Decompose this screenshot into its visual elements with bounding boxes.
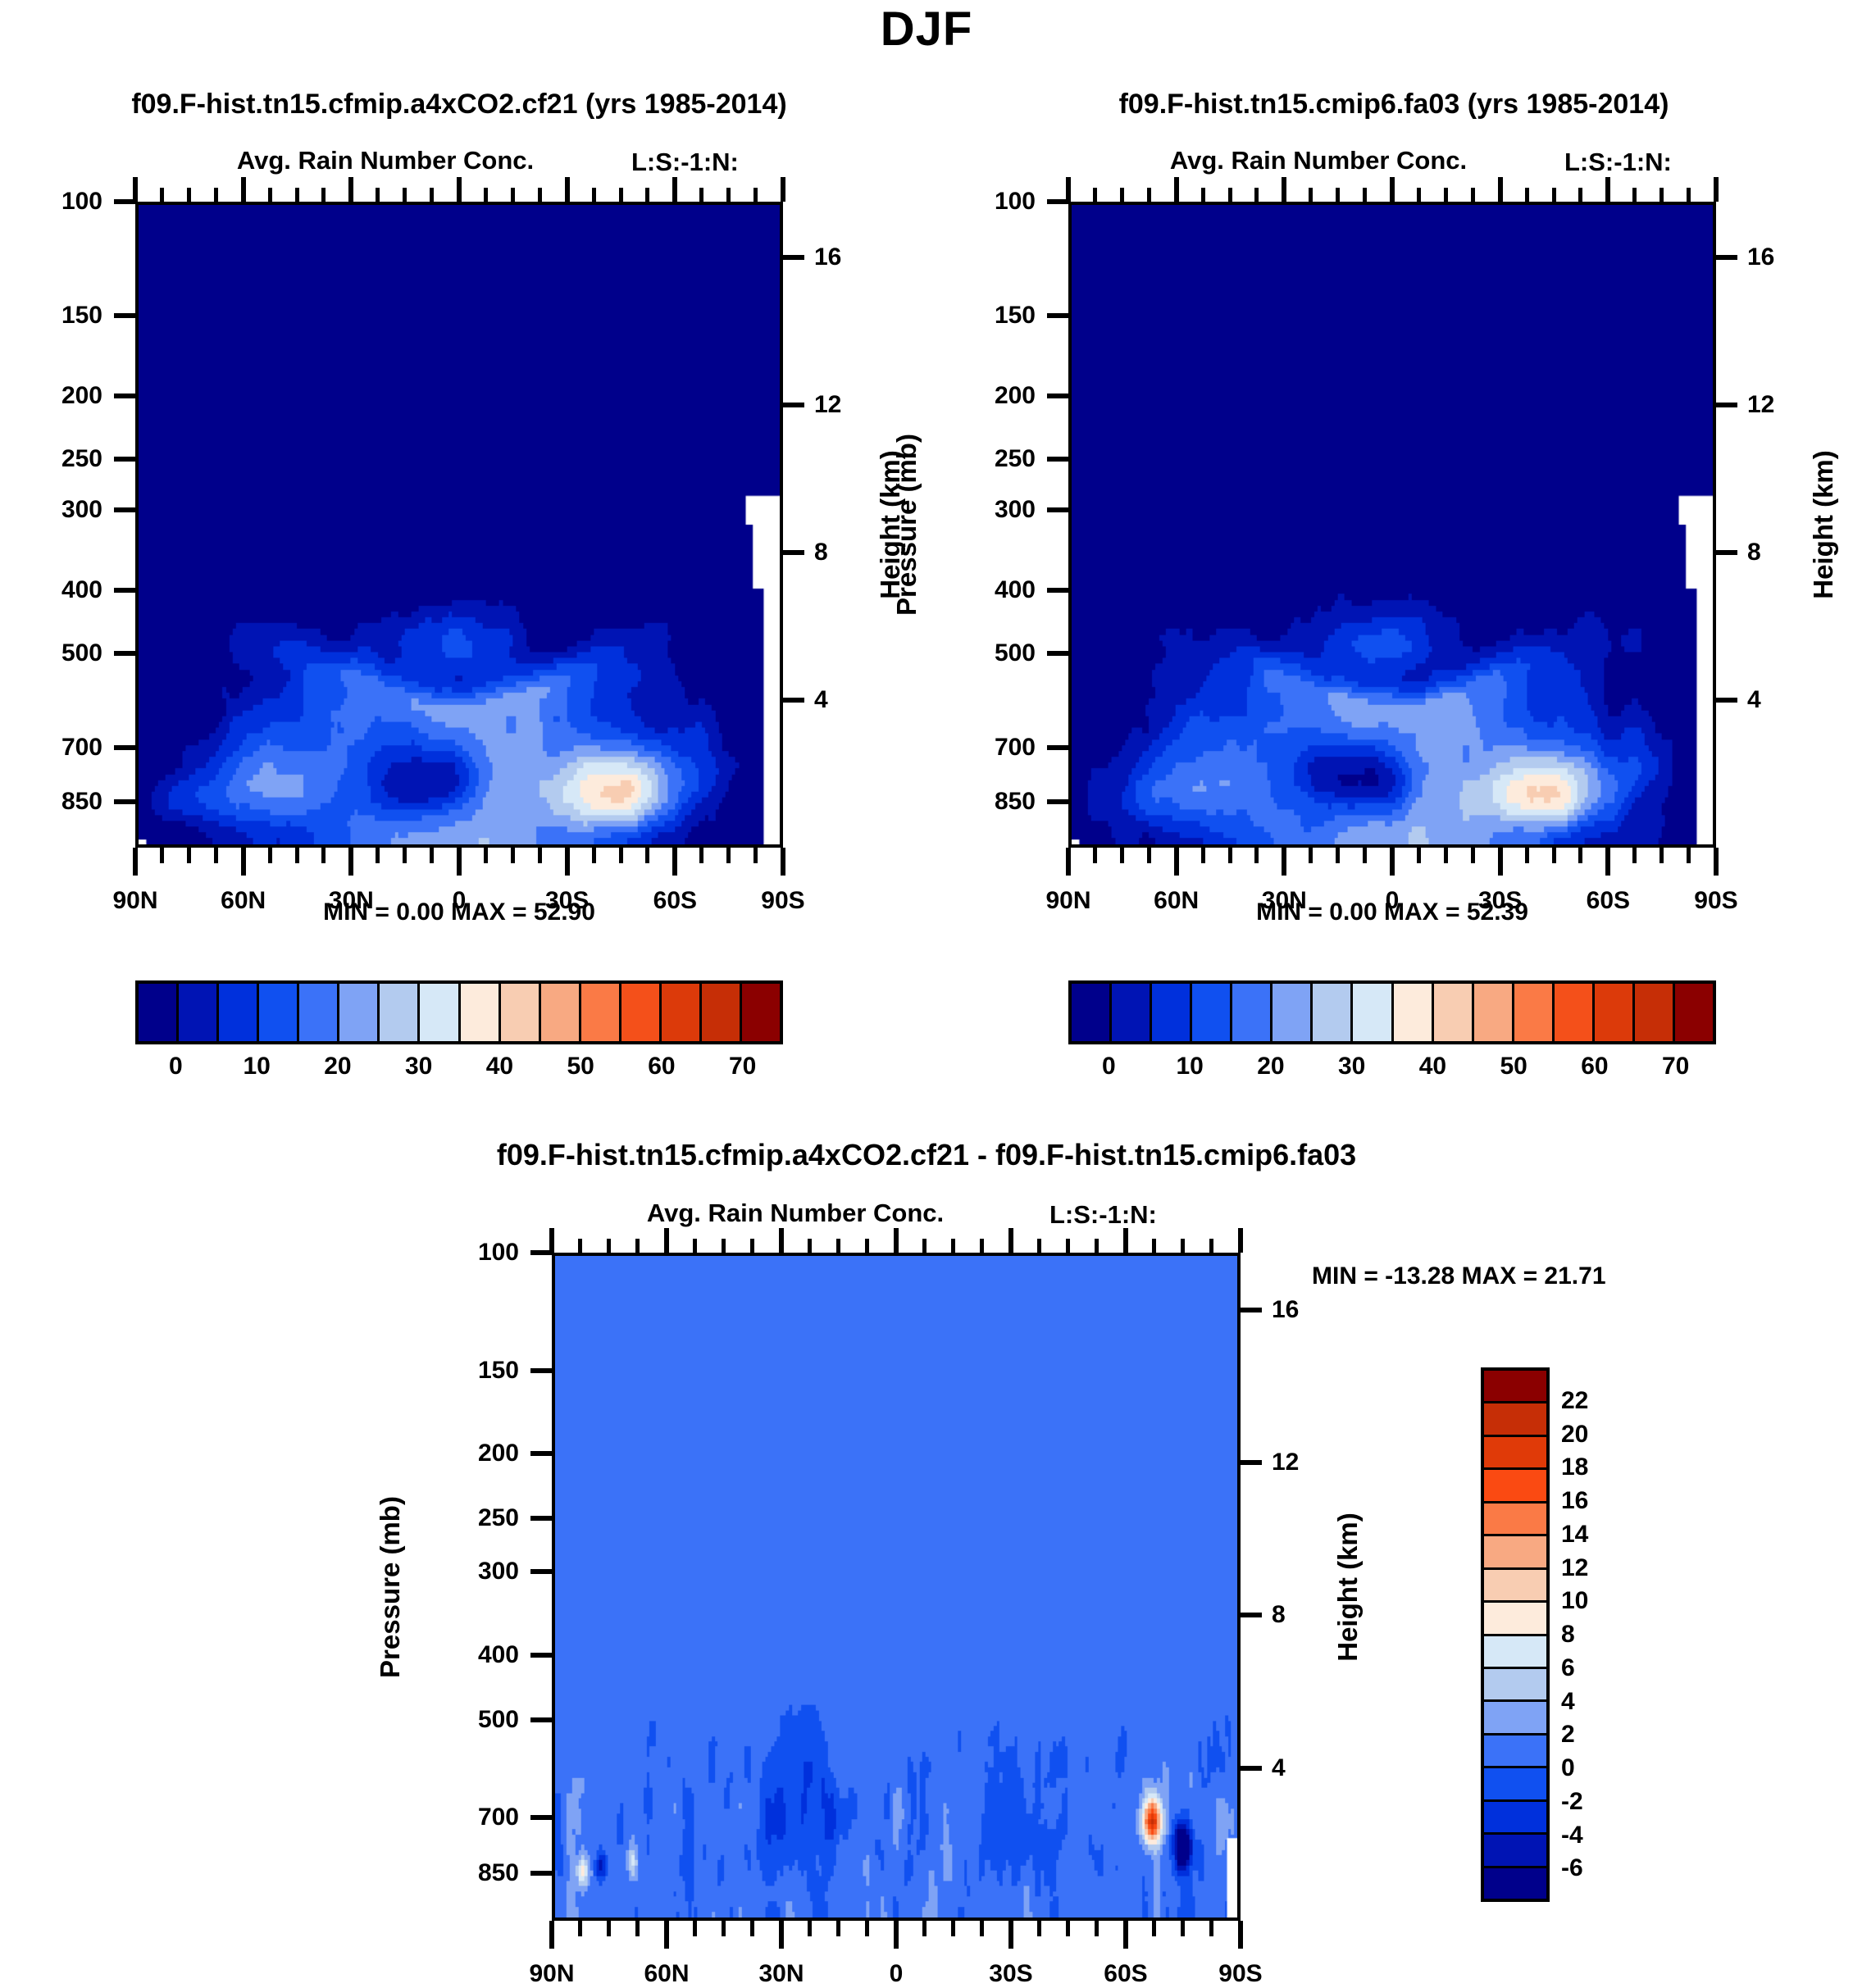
y-axis-tick-label: 700 [937,734,1036,762]
x-axis-top-minor-tick [511,188,515,202]
x-axis-minor-tick [1037,1921,1041,1936]
plot-area-top-left [135,202,783,848]
colorbar-tick-label: -4 [1561,1822,1583,1849]
y-axis-tick [530,1871,552,1876]
y-axis-tick [1047,588,1068,593]
plot-area-top-right [1068,202,1716,848]
x-axis-top-minor-tick [430,188,434,202]
y-axis-tick-label: 150 [937,302,1036,330]
x-axis-minor-tick [214,848,218,863]
colorbar-swatch [1675,984,1713,1041]
x-axis-minor-tick [1120,848,1124,863]
x-axis-top-tick [1008,1228,1013,1253]
x-axis-tick [1123,1921,1128,1949]
x-axis-tick-label: 60N [221,887,266,915]
x-axis-top-minor-tick [1095,1239,1099,1253]
x-axis-minor-tick [403,848,407,863]
x-axis-top-tick [549,1228,554,1253]
y-axis-tick-label: 500 [4,639,102,667]
colorbar-swatch [1484,1536,1546,1569]
colorbar-swatch [1484,1702,1546,1735]
y-axis-tick-label: 200 [421,1440,519,1467]
x-axis-top-minor-tick [1578,188,1582,202]
contour-field-top-left [139,205,780,844]
x-axis-minor-tick [607,1921,611,1936]
colorbar-tick-label: 30 [1338,1053,1365,1080]
x-axis-top-minor-tick [1181,1239,1185,1253]
colorbar-swatch [339,984,380,1041]
x-axis-top-minor-tick [1660,188,1664,202]
y-axis-tick [1047,394,1068,398]
colorbar-bottom-diff[interactable] [1481,1367,1550,1902]
y-axis-tick [114,457,135,462]
panel-subtitle-top-left: Avg. Rain Number Conc. [131,146,640,175]
colorbar-tick-label: 0 [1102,1053,1116,1080]
x-axis-minor-tick [1181,1921,1185,1936]
x-axis-minor-tick [430,848,434,863]
x-axis-minor-tick [1660,848,1664,863]
y2-axis-tick-label: 8 [1747,539,1761,566]
y-axis-tick-label: 400 [937,576,1036,604]
y-axis-tick-label: 400 [421,1641,519,1669]
x-axis-top-minor-tick [865,1239,869,1253]
x-axis-tick-label: 90N [1045,887,1090,915]
x-axis-top-minor-tick [1309,188,1313,202]
colorbar-swatch [1514,984,1555,1041]
colorbar-swatch [1484,1768,1546,1801]
colorbar-swatch [1484,1802,1546,1835]
y-axis-tick [114,745,135,750]
y-axis-tick-label: 300 [937,496,1036,524]
colorbar-tick-label: 10 [1176,1053,1203,1080]
x-axis-tick-label: 60N [1154,887,1199,915]
colorbar-tick-label: 12 [1561,1554,1588,1582]
minmax-bottom-diff: MIN = -13.28 MAX = 21.71 [1312,1262,1606,1290]
y-axis-tick-label: 250 [937,445,1036,473]
x-axis-minor-tick [376,848,380,863]
panel-ls-label-bottom-diff: L:S:-1:N: [1049,1200,1157,1230]
colorbar-swatch [1484,1835,1546,1867]
x-axis-top-minor-tick [1525,188,1529,202]
x-axis-top-minor-tick [808,1239,812,1253]
colorbar-swatch [1232,984,1273,1041]
x-axis-minor-tick [1228,848,1232,863]
x-axis-minor-tick [1471,848,1475,863]
colorbar-swatch [179,984,219,1041]
x-axis-minor-tick [980,1921,984,1936]
x-axis-top-tick [1282,177,1286,202]
colorbar-swatch [742,984,780,1041]
x-axis-tick-label: 30S [545,887,589,915]
y-axis-tick-label: 500 [421,1706,519,1734]
x-axis-minor-tick [1578,848,1582,863]
colorbar-swatch [1474,984,1514,1041]
x-axis-minor-tick [922,1921,926,1936]
x-axis-minor-tick [1336,848,1340,863]
x-axis-minor-tick [726,848,731,863]
x-axis-tick [1238,1921,1243,1949]
y-axis-tick-label: 850 [937,788,1036,816]
colorbar-tick-label: 10 [1561,1587,1588,1615]
colorbar-swatch [1484,1470,1546,1503]
season-title: DJF [0,2,1853,57]
x-axis-minor-tick [951,1921,955,1936]
y-axis-tick [1047,313,1068,318]
x-axis-top-minor-tick [1093,188,1097,202]
x-axis-top-tick [1605,177,1610,202]
x-axis-top-minor-tick [693,1239,697,1253]
x-axis-top-minor-tick [722,1239,726,1253]
y2-axis-tick [783,403,804,407]
x-axis-minor-tick [1552,848,1556,863]
x-axis-top-minor-tick [922,1239,926,1253]
x-axis-tick [781,848,785,876]
y-axis-tick [1047,457,1068,462]
x-axis-minor-tick [1309,848,1313,863]
x-axis-top-minor-tick [187,188,191,202]
colorbar-swatch [1484,1504,1546,1536]
y-axis-tick-label: 250 [421,1504,519,1532]
colorbar-tick-label: 60 [648,1053,675,1080]
colorbar-tick-label: 4 [1561,1688,1575,1716]
x-axis-top-minor-tick [321,188,326,202]
x-axis-tick-label: 30S [1478,887,1522,915]
x-axis-tick-label: 60S [653,887,697,915]
x-axis-top-tick [241,177,246,202]
y2-axis-tick [1716,255,1737,260]
x-axis-top-minor-tick [1336,188,1340,202]
y2-axis-tick [783,550,804,555]
colorbar-top-right[interactable] [1068,980,1716,1044]
colorbar-tick-label: -2 [1561,1788,1583,1816]
x-axis-top-minor-tick [403,188,407,202]
x-axis-top-minor-tick [1254,188,1259,202]
x-axis-top-tick [781,177,785,202]
colorbar-tick-label: 8 [1561,1621,1575,1649]
x-axis-tick-label: 90N [112,887,157,915]
y-axis-tick [530,1653,552,1658]
x-axis-minor-tick [1066,1921,1070,1936]
x-axis-top-minor-tick [376,188,380,202]
colorbar-swatch [501,984,541,1041]
x-axis-minor-tick [1093,848,1097,863]
x-axis-top-minor-tick [160,188,164,202]
x-axis-minor-tick [750,1921,754,1936]
y-axis-tick [114,651,135,656]
colorbar-tick-label: 50 [1500,1053,1527,1080]
x-axis-minor-tick [160,848,164,863]
colorbar-swatch [139,984,179,1041]
x-axis-top-minor-tick [1444,188,1448,202]
x-axis-minor-tick [321,848,326,863]
colorbar-swatch [1072,984,1112,1041]
x-axis-tick-label: 0 [453,887,467,915]
x-axis-top-tick [1498,177,1503,202]
x-axis-tick-label: 90N [529,1960,574,1988]
colorbar-tick-label: 40 [486,1053,513,1080]
x-axis-tick [1066,848,1071,876]
y-axis-tick [530,1815,552,1820]
panel-title-top-left: f09.F-hist.tn15.cfmip.a4xCO2.cf21 (yrs 1… [0,89,918,121]
x-axis-top-minor-tick [268,188,272,202]
x-axis-top-tick [1066,177,1071,202]
colorbar-swatch [1484,1636,1546,1669]
y2-axis-tick [1241,1460,1262,1465]
x-axis-top-minor-tick [214,188,218,202]
x-axis-top-minor-tick [1066,1239,1070,1253]
colorbar-tick-label: 20 [1561,1421,1588,1449]
y2-axis-tick-label: 12 [1747,391,1774,419]
colorbar-swatch [581,984,621,1041]
x-axis-top-minor-tick [1209,1239,1213,1253]
colorbar-swatch [1595,984,1635,1041]
x-axis-minor-tick [699,848,703,863]
x-axis-top-minor-tick [1417,188,1421,202]
x-axis-top-tick [1390,177,1395,202]
x-axis-tick-label: 90S [1218,1960,1262,1988]
x-axis-top-minor-tick [578,1239,582,1253]
colorbar-tick-label: 70 [729,1053,756,1080]
x-axis-minor-tick [268,848,272,863]
colorbar-swatch [299,984,339,1041]
x-axis-tick-label: 60S [1104,1960,1147,1988]
y-axis-tick-label: 850 [421,1859,519,1887]
colorbar-tick-label: 40 [1419,1053,1446,1080]
x-axis-tick [1008,1921,1013,1949]
x-axis-minor-tick [1444,848,1448,863]
x-axis-tick [241,848,246,876]
x-axis-top-tick [133,177,138,202]
colorbar-tick-label: 6 [1561,1654,1575,1682]
y-axis-tick [530,1516,552,1521]
y2-axis-tick-label: 4 [814,686,828,714]
x-axis-tick [1174,848,1179,876]
x-axis-tick [1714,848,1719,876]
y2-axis-tick-label: 12 [1272,1449,1299,1476]
colorbar-tick-label: 30 [405,1053,432,1080]
x-axis-tick [348,848,353,876]
y-axis-tick [114,799,135,804]
x-axis-tick [779,1921,784,1949]
y2-axis-tick-label: 4 [1272,1754,1286,1782]
x-axis-top-minor-tick [699,188,703,202]
colorbar-top-left[interactable] [135,980,783,1044]
x-axis-top-tick [1123,1228,1128,1253]
x-axis-top-minor-tick [1687,188,1691,202]
x-axis-minor-tick [578,1921,582,1936]
y-axis-tick-label: 250 [4,445,102,473]
x-axis-tick-label: 60S [1587,887,1630,915]
x-axis-tick [1605,848,1610,876]
y-axis-tick-label: 200 [4,382,102,410]
x-axis-minor-tick [619,848,623,863]
x-axis-minor-tick [1095,1921,1099,1936]
y2-axis-tick [1241,1613,1262,1617]
x-axis-minor-tick [538,848,542,863]
colorbar-swatch [1484,1868,1546,1899]
x-axis-top-minor-tick [1152,1239,1156,1253]
x-axis-top-minor-tick [484,188,488,202]
y2-axis-tick [1241,1308,1262,1312]
x-axis-minor-tick [836,1921,840,1936]
y2-axis-tick [1716,403,1737,407]
colorbar-swatch [1484,1371,1546,1403]
y2-axis-title: Height (km) [1808,450,1839,599]
colorbar-swatch [1484,1603,1546,1635]
y2-axis-tick [1716,550,1737,555]
colorbar-swatch [1313,984,1353,1041]
x-axis-minor-tick [645,848,649,863]
x-axis-top-minor-tick [1037,1239,1041,1253]
colorbar-tick-label: 2 [1561,1721,1575,1749]
x-axis-top-tick [894,1228,899,1253]
y-axis-tick-label: 700 [421,1804,519,1831]
x-axis-tick-label: 30N [1262,887,1307,915]
x-axis-minor-tick [295,848,299,863]
x-axis-top-minor-tick [1147,188,1151,202]
x-axis-top-tick [672,177,677,202]
colorbar-swatch [1273,984,1313,1041]
x-axis-top-minor-tick [295,188,299,202]
y-axis-tick-label: 300 [421,1558,519,1585]
x-axis-top-tick [1174,177,1179,202]
x-axis-top-minor-tick [750,1239,754,1253]
x-axis-top-tick [457,177,462,202]
colorbar-swatch [461,984,501,1041]
y-axis-tick [1047,745,1068,750]
colorbar-swatch [1484,1736,1546,1768]
x-axis-top-minor-tick [645,188,649,202]
x-axis-minor-tick [722,1921,726,1936]
x-axis-top-minor-tick [980,1239,984,1253]
colorbar-swatch [1353,984,1393,1041]
x-axis-minor-tick [592,848,596,863]
y-axis-tick [530,1569,552,1574]
x-axis-minor-tick [187,848,191,863]
y-axis-tick-label: 850 [4,788,102,816]
x-axis-minor-tick [1632,848,1637,863]
y-axis-tick [114,507,135,512]
x-axis-top-tick [1714,177,1719,202]
colorbar-tick-label: 70 [1662,1053,1689,1080]
colorbar-tick-label: 20 [324,1053,351,1080]
x-axis-top-tick [565,177,570,202]
y-axis-tick [1047,651,1068,656]
x-axis-minor-tick [1209,1921,1213,1936]
colorbar-swatch [1434,984,1474,1041]
x-axis-tick-label: 30N [329,887,374,915]
contour-field-bottom-diff [555,1256,1237,1917]
x-axis-tick [672,848,677,876]
x-axis-minor-tick [1152,1921,1156,1936]
x-axis-minor-tick [484,848,488,863]
x-axis-tick [457,848,462,876]
colorbar-swatch [621,984,662,1041]
x-axis-top-minor-tick [619,188,623,202]
y-axis-tick-label: 300 [4,496,102,524]
x-axis-tick-label: 90S [1694,887,1737,915]
x-axis-tick [565,848,570,876]
y-axis-tick-label: 150 [4,302,102,330]
colorbar-tick-label: 16 [1561,1487,1588,1515]
colorbar-swatch [420,984,460,1041]
colorbar-swatch [1484,1669,1546,1702]
colorbar-tick-label: 50 [567,1053,594,1080]
y2-axis-tick-label: 16 [1272,1296,1299,1324]
colorbar-tick-label: 14 [1561,1521,1588,1549]
colorbar-swatch [541,984,581,1041]
y-axis-tick [114,394,135,398]
x-axis-top-minor-tick [1228,188,1232,202]
y-axis-tick [530,1717,552,1722]
colorbar-swatch [702,984,742,1041]
colorbar-tick-label: 22 [1561,1387,1588,1415]
colorbar-tick-label: 0 [169,1053,183,1080]
y-axis-tick-label: 100 [4,188,102,216]
y2-axis-tick [783,255,804,260]
x-axis-top-minor-tick [635,1239,640,1253]
colorbar-swatch [1484,1570,1546,1603]
x-axis-top-minor-tick [951,1239,955,1253]
y2-axis-tick [1241,1766,1262,1771]
colorbar-tick-label: 0 [1561,1754,1575,1782]
y-axis-tick [1047,507,1068,512]
x-axis-top-minor-tick [592,188,596,202]
x-axis-top-minor-tick [607,1239,611,1253]
y-axis-title: Pressure (mb) [375,1496,406,1678]
x-axis-minor-tick [1525,848,1529,863]
x-axis-minor-tick [808,1921,812,1936]
y-axis-tick-label: 100 [937,188,1036,216]
y-axis-tick-label: 400 [4,576,102,604]
colorbar-swatch [1555,984,1595,1041]
x-axis-tick [1282,848,1286,876]
panel-title-top-right: f09.F-hist.tn15.cmip6.fa03 (yrs 1985-201… [935,89,1853,121]
y-axis-tick [1047,799,1068,804]
colorbar-swatch [1484,1437,1546,1470]
colorbar-swatch [259,984,299,1041]
y2-axis-tick [1716,698,1737,703]
x-axis-top-tick [779,1228,784,1253]
x-axis-minor-tick [635,1921,640,1936]
x-axis-top-minor-tick [1363,188,1367,202]
x-axis-minor-tick [1254,848,1259,863]
y-axis-title: Pressure (mb) [891,434,922,616]
x-axis-tick [133,848,138,876]
y2-axis-tick-label: 12 [814,391,841,419]
y2-axis-tick-label: 8 [814,539,828,566]
panel-title-bottom-diff: f09.F-hist.tn15.cfmip.a4xCO2.cf21 - f09.… [0,1138,1853,1172]
x-axis-tick-label: 60N [644,1960,689,1988]
x-axis-tick [1390,848,1395,876]
y-axis-tick [114,588,135,593]
x-axis-minor-tick [1417,848,1421,863]
y-axis-tick [530,1368,552,1373]
x-axis-minor-tick [1687,848,1691,863]
colorbar-swatch [1635,984,1675,1041]
x-axis-tick-label: 30N [758,1960,804,1988]
panel-ls-label-top-right: L:S:-1:N: [1564,148,1672,177]
y2-axis-tick-label: 16 [1747,243,1774,271]
x-axis-tick [549,1921,554,1949]
colorbar-swatch [1394,984,1434,1041]
colorbar-swatch [1112,984,1152,1041]
colorbar-tick-label: 10 [243,1053,270,1080]
colorbar-tick-label: 20 [1257,1053,1284,1080]
colorbar-tick-label: 18 [1561,1453,1588,1481]
y-axis-tick-label: 150 [421,1357,519,1385]
x-axis-top-minor-tick [1201,188,1205,202]
